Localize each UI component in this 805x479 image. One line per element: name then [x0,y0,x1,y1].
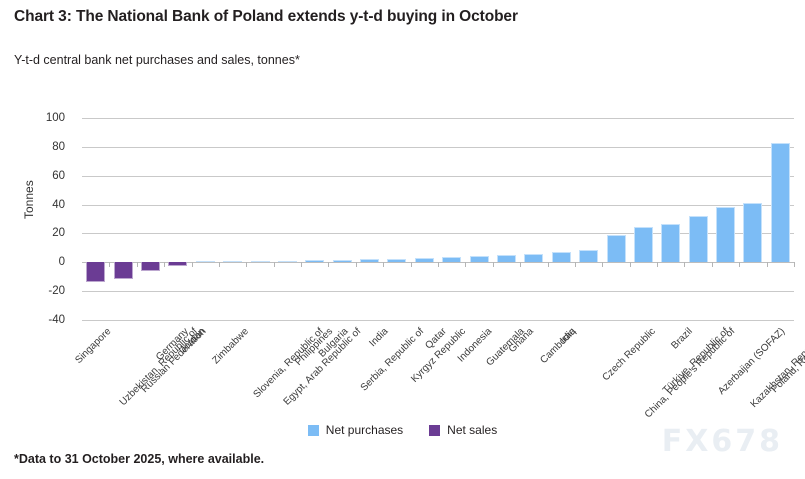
y-axis-tick-label: 20 [25,227,65,239]
bar[interactable] [333,260,352,262]
bar[interactable] [360,259,379,262]
plot-area: 100806040200-20-40 [82,118,794,320]
y-axis-tick-label: 0 [25,256,65,268]
x-axis-label: Serbia, Republic of [358,326,426,394]
legend-swatch-icon [308,425,319,436]
bar[interactable] [743,203,762,262]
y-axis-tick-label: 100 [25,112,65,124]
x-axis-label: Jordan [178,326,207,355]
x-axis-tickmark [493,262,494,267]
x-axis-tickmark [356,262,357,267]
x-axis-label: Brazil [669,326,694,351]
x-axis-tickmark [411,262,412,267]
bar[interactable] [387,259,406,262]
legend-item-net-purchases[interactable]: Net purchases [308,423,403,437]
bar[interactable] [168,262,187,266]
x-axis-label: China, People's Republic of [643,326,737,420]
x-axis-tickmark [109,262,110,267]
x-axis-label: Egypt, Arab Republic of [282,326,364,408]
bar[interactable] [607,235,626,262]
x-axis-tickmark [575,262,576,267]
bar[interactable] [771,143,790,263]
x-axis-label: Ghana [507,326,536,355]
bar[interactable] [442,257,461,262]
x-axis-label: Indonesia [456,326,494,364]
x-axis-tickmark [767,262,768,267]
x-axis-label: Guatemala [485,326,527,368]
legend-swatch-icon [429,425,440,436]
x-axis-tickmark [301,262,302,267]
x-axis-label: Iraq [558,326,578,346]
legend-item-net-sales[interactable]: Net sales [429,423,497,437]
chart-page: Chart 3: The National Bank of Poland ext… [0,0,805,479]
x-axis-tickmark [137,262,138,267]
x-axis-tickmark [192,262,193,267]
bar[interactable] [305,260,324,262]
x-axis-tickmark [520,262,521,267]
legend-label-net-sales: Net sales [447,423,497,437]
x-axis-tickmark [794,262,795,267]
bar[interactable] [278,261,297,263]
legend-label-net-purchases: Net purchases [326,423,403,437]
y-axis-tick-label: 40 [25,199,65,211]
bar[interactable] [579,250,598,262]
watermark: FX678 [662,424,783,459]
x-axis-tickmark [465,262,466,267]
x-axis-label: India [367,326,390,349]
bar[interactable] [196,261,215,262]
x-axis-label: Russian Federation [140,326,209,395]
x-axis-tickmark [438,262,439,267]
x-axis-tickmark [383,262,384,267]
y-axis-tick-label: -20 [25,285,65,297]
bars-group [82,118,794,320]
x-axis-label: Cambodia [539,326,579,366]
footnote: *Data to 31 October 2025, where availabl… [14,452,264,466]
x-axis-label: Slovenia, Republic of [252,326,326,400]
bar[interactable] [524,254,543,263]
x-axis-label: Germany [154,326,191,363]
bar[interactable] [552,252,571,262]
y-axis-tick-label: 80 [25,141,65,153]
x-axis-label: Kyrgyz Republic [409,326,468,385]
x-axis-label: Singapore [73,326,113,366]
x-axis-tickmark [548,262,549,267]
gridline [82,320,794,321]
x-axis-label: Azerbaijan (SOFAZ) [716,326,787,397]
x-axis-tickmark [602,262,603,267]
x-axis-label: Philippines [293,326,335,368]
bar[interactable] [141,262,160,271]
x-axis-label: Türkiye, Republic of [661,326,731,396]
y-axis-tick-label: 60 [25,170,65,182]
x-axis-tickmark [219,262,220,267]
page-title: Chart 3: The National Bank of Poland ext… [14,8,518,26]
x-axis-label: Bulgaria [317,326,351,360]
x-axis-tickmark [164,262,165,267]
bar[interactable] [223,261,242,262]
x-axis-label: Czech Republic [601,326,658,383]
chart-subtitle: Y-t-d central bank net purchases and sal… [14,53,300,67]
bar[interactable] [661,224,680,263]
bar[interactable] [114,262,133,279]
y-axis-tick-label: -40 [25,314,65,326]
x-axis-label: Qatar [423,326,448,351]
x-axis-label: Zimbabwe [210,326,250,366]
bar[interactable] [415,258,434,262]
bar[interactable] [634,227,653,263]
x-axis-label: Poland, Republic of [770,326,805,395]
x-axis-tickmark [657,262,658,267]
x-axis-tickmark [684,262,685,267]
x-axis-tickmark [712,262,713,267]
bar[interactable] [470,256,489,262]
bar[interactable] [251,261,270,262]
bar[interactable] [689,216,708,262]
x-axis-tickmark [328,262,329,267]
x-axis-label: Uzbekistan, Republic of [118,326,200,408]
bar[interactable] [86,262,105,282]
bar[interactable] [497,255,516,262]
x-axis-tickmark [739,262,740,267]
x-axis-label: Kazakhstan, Republic of [749,326,805,410]
x-axis-tickmark [630,262,631,267]
bar[interactable] [716,207,735,262]
x-axis-tickmark [274,262,275,267]
x-axis-tickmark [246,262,247,267]
